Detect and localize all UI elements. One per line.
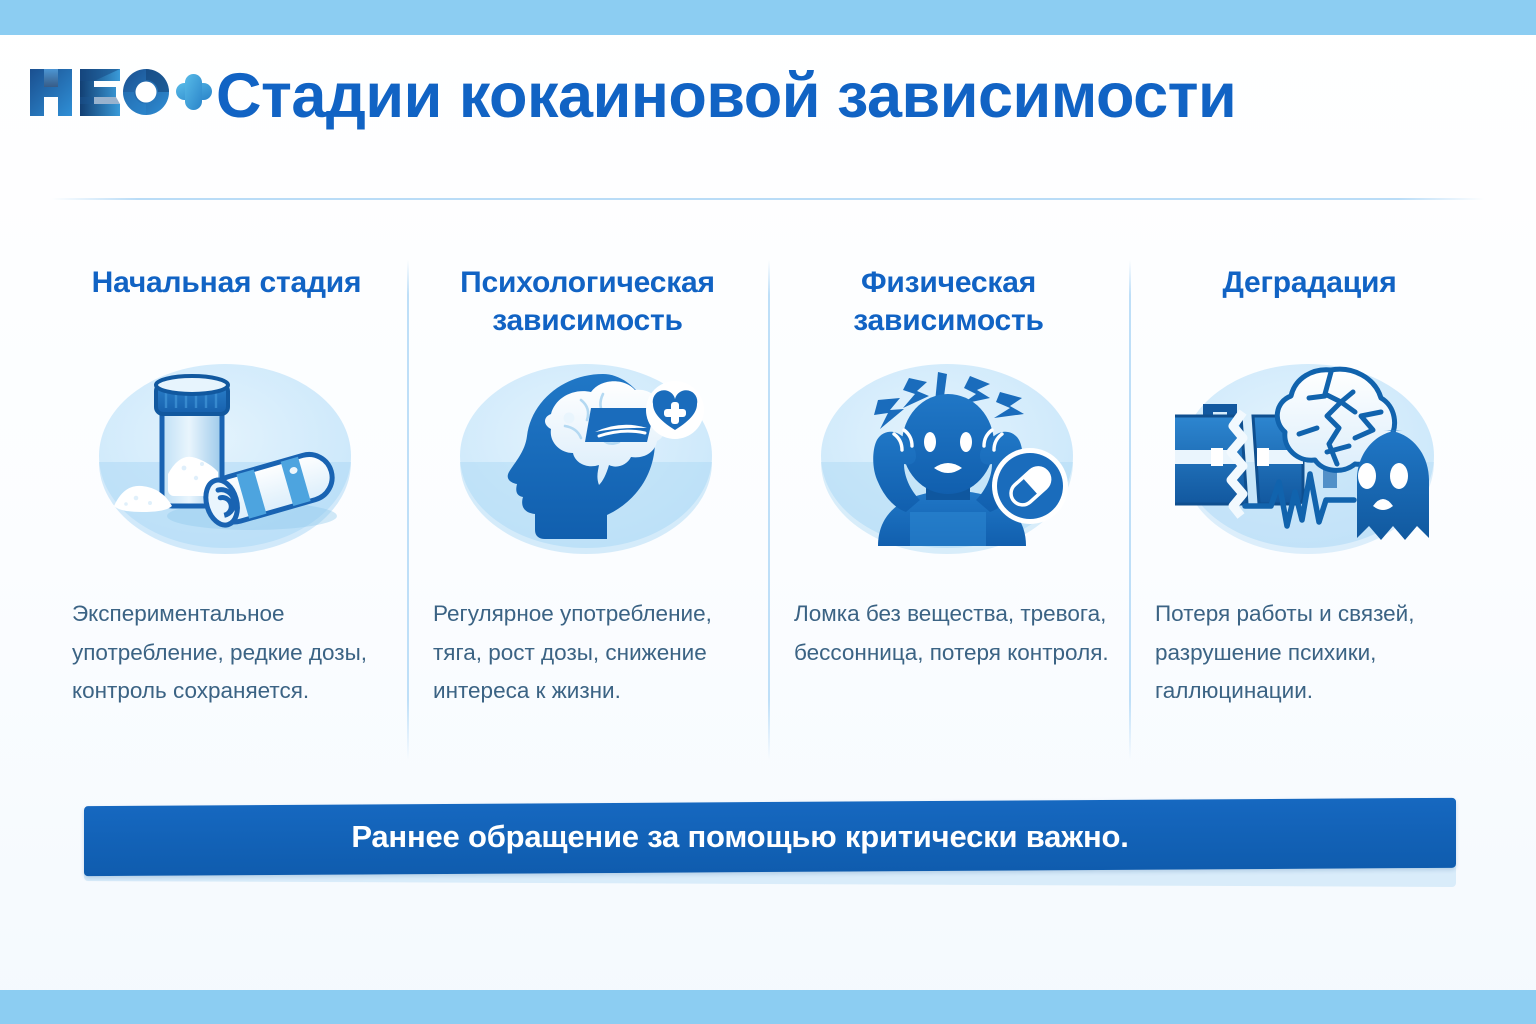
page-title: Стадии кокаиновой зависимости [216,63,1476,129]
stage-title-1: Начальная стадия [92,264,362,350]
head-brain-heart-plus-icon [453,356,723,561]
header-divider [52,198,1484,200]
infographic-page: Стадии кокаиновой зависимости Начальная … [0,0,1536,1024]
bottom-accent-bar [0,990,1536,1024]
stage-text-4: Потеря работы и связей, разрушение психи… [1143,595,1476,711]
powder-jar-and-rolled-bill-icon [92,356,362,561]
header: Стадии кокаиновой зависимости [0,35,1536,198]
stage-card-3: Физическая зависимость [768,250,1129,770]
banner-text: Раннее обращение за помощью критически в… [84,819,1456,855]
stage-card-4: Деградация [1129,250,1490,770]
stage-title-4: Деградация [1222,264,1396,350]
stage-text-1: Экспериментальное употребление, редкие д… [60,595,393,711]
broken-briefcase-brain-ghost-icon [1175,356,1445,561]
neo-plus-logo [24,61,214,123]
stage-card-1: Начальная стадия [46,250,407,770]
stages-row: Начальная стадия [46,250,1490,770]
stage-title-3: Физическая зависимость [782,264,1115,350]
top-accent-bar [0,0,1536,35]
stage-text-3: Ломка без вещества, тревога, бессонница,… [782,595,1115,672]
stage-text-2: Регулярное употребление, тяга, рост дозы… [421,595,754,711]
stage-card-2: Психологическая зависимость [407,250,768,770]
call-to-action-banner: Раннее обращение за помощью критически в… [84,798,1456,876]
stage-title-2: Психологическая зависимость [421,264,754,350]
distressed-person-pill-icon [814,356,1084,561]
